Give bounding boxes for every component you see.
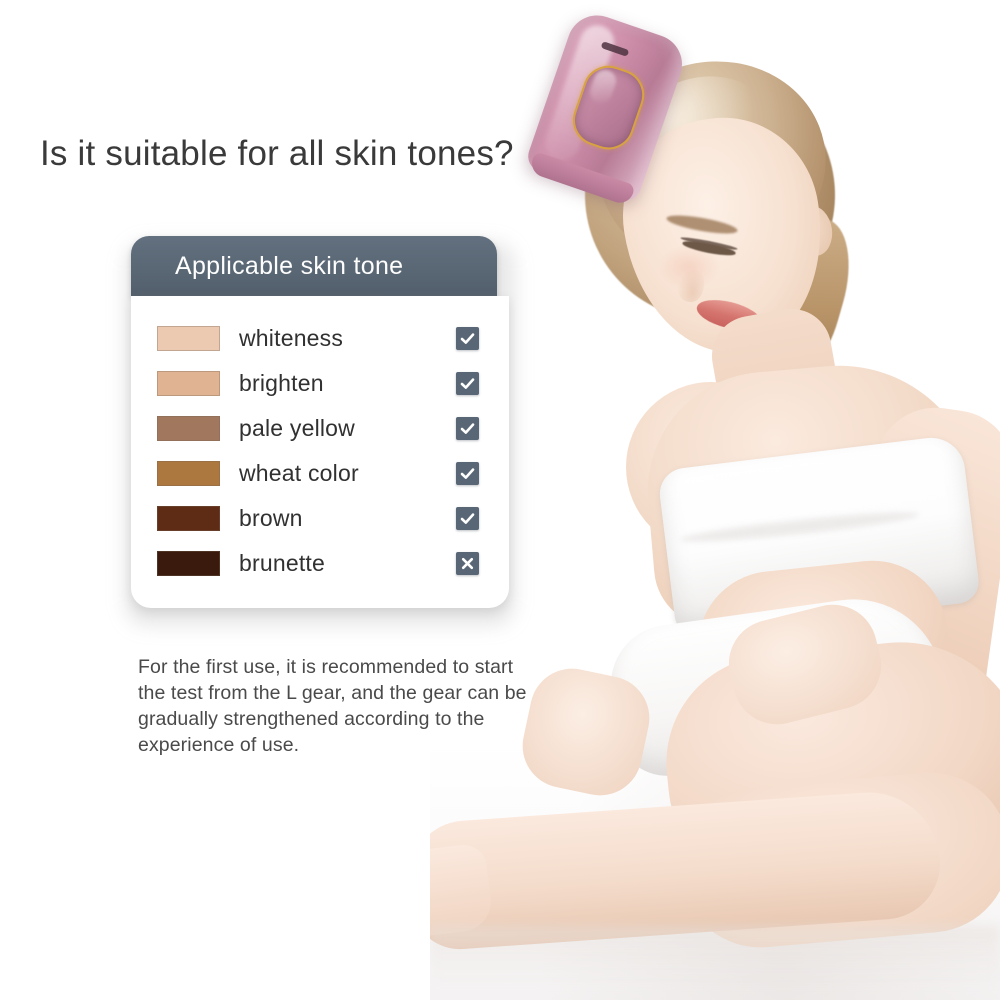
check-icon: [456, 327, 479, 350]
applicable-skin-tone-card: Applicable skin tone whiteness brighten …: [131, 236, 509, 608]
skin-tone-row: brighten: [131, 361, 509, 406]
skin-tone-row: brunette: [131, 541, 509, 586]
skin-tone-label: pale yellow: [239, 415, 355, 442]
skin-tone-swatch: [157, 551, 220, 576]
skin-tone-swatch: [157, 506, 220, 531]
floor-reflection: [430, 926, 1000, 1000]
skin-tone-swatch: [157, 371, 220, 396]
promo-image: Is it suitable for all skin tones? Appli…: [0, 0, 1000, 1000]
check-icon: [456, 507, 479, 530]
skin-tone-label: brown: [239, 505, 303, 532]
skin-tone-swatch: [157, 326, 220, 351]
check-icon: [456, 372, 479, 395]
skin-tone-row: pale yellow: [131, 406, 509, 451]
skin-tone-label: whiteness: [239, 325, 343, 352]
skin-tone-label: brunette: [239, 550, 325, 577]
card-title: Applicable skin tone: [175, 252, 403, 281]
skin-tone-label: wheat color: [239, 460, 359, 487]
skin-tone-label: brighten: [239, 370, 324, 397]
check-icon: [456, 417, 479, 440]
skin-tone-swatch: [157, 416, 220, 441]
cross-icon: [456, 552, 479, 575]
skin-tone-row: whiteness: [131, 316, 509, 361]
card-header: Applicable skin tone: [131, 236, 497, 296]
check-icon: [456, 462, 479, 485]
skin-tone-row: wheat color: [131, 451, 509, 496]
page-headline: Is it suitable for all skin tones?: [40, 134, 640, 173]
skin-tone-swatch: [157, 461, 220, 486]
usage-note: For the first use, it is recommended to …: [138, 655, 528, 759]
skin-tone-row: brown: [131, 496, 509, 541]
card-body: whiteness brighten pale yellow: [131, 296, 509, 608]
